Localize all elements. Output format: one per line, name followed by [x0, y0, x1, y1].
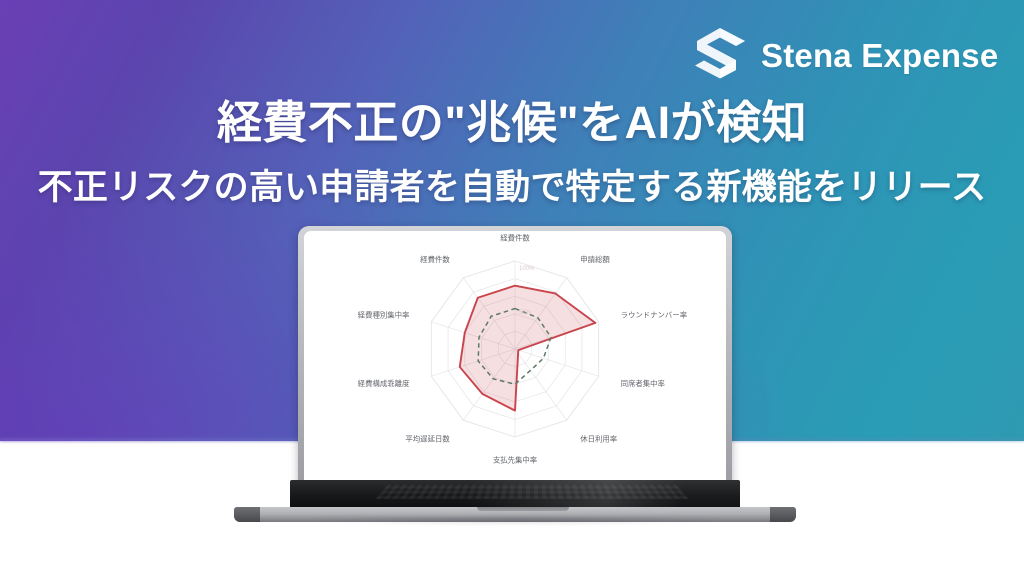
radar-axis-label: 休日利用率 [580, 434, 617, 443]
radar-axis-label: ラウンドナンバー率 [621, 310, 688, 319]
radar-axis-label: 平均遅延日数 [405, 434, 450, 443]
laptop-keyboard-deck [290, 480, 740, 510]
page-title: 経費不正の"兆候"をAIが検知 [0, 97, 1024, 149]
radar-chart: 50%100% 経費件数申請総額ラウンドナンバー率同席者集中率休日利用率支払先集… [304, 231, 726, 482]
deck-reflection [465, 480, 740, 510]
radar-axis-label: 経費構成乖離度 [358, 379, 410, 388]
brand-logo: Stena Expense [692, 26, 998, 84]
radar-axis-label: 申請総額 [580, 255, 610, 264]
radar-axis-label: 経費種別集中率 [358, 310, 410, 319]
radar-tick-label: 50% [519, 310, 532, 316]
laptop-mockup: 50%100% 経費件数申請総額ラウンドナンバー率同席者集中率休日利用率支払先集… [226, 226, 804, 518]
radar-axis-label: 経費件数 [500, 234, 530, 243]
brand-name: Stena Expense [761, 39, 998, 72]
radar-series-group [460, 286, 596, 411]
base-notch [477, 507, 569, 511]
radar-axis-label: 経費件数 [420, 255, 450, 264]
radar-axis-label: 同席者集中率 [621, 379, 665, 388]
radar-tick-label: 100% [519, 266, 535, 272]
radar-axis-label: 支払先集中率 [493, 456, 537, 465]
laptop-shadow [226, 518, 804, 532]
laptop-screen: 50%100% 経費件数申請総額ラウンドナンバー率同席者集中率休日利用率支払先集… [304, 231, 726, 482]
slide-canvas: Stena Expense 経費不正の"兆候"をAIが検知 不正リスクの高い申請… [0, 0, 1024, 574]
page-subtitle: 不正リスクの高い申請者を自動で特定する新機能をリリース [0, 167, 1024, 209]
stena-isometric-s-logo-icon [692, 26, 748, 84]
